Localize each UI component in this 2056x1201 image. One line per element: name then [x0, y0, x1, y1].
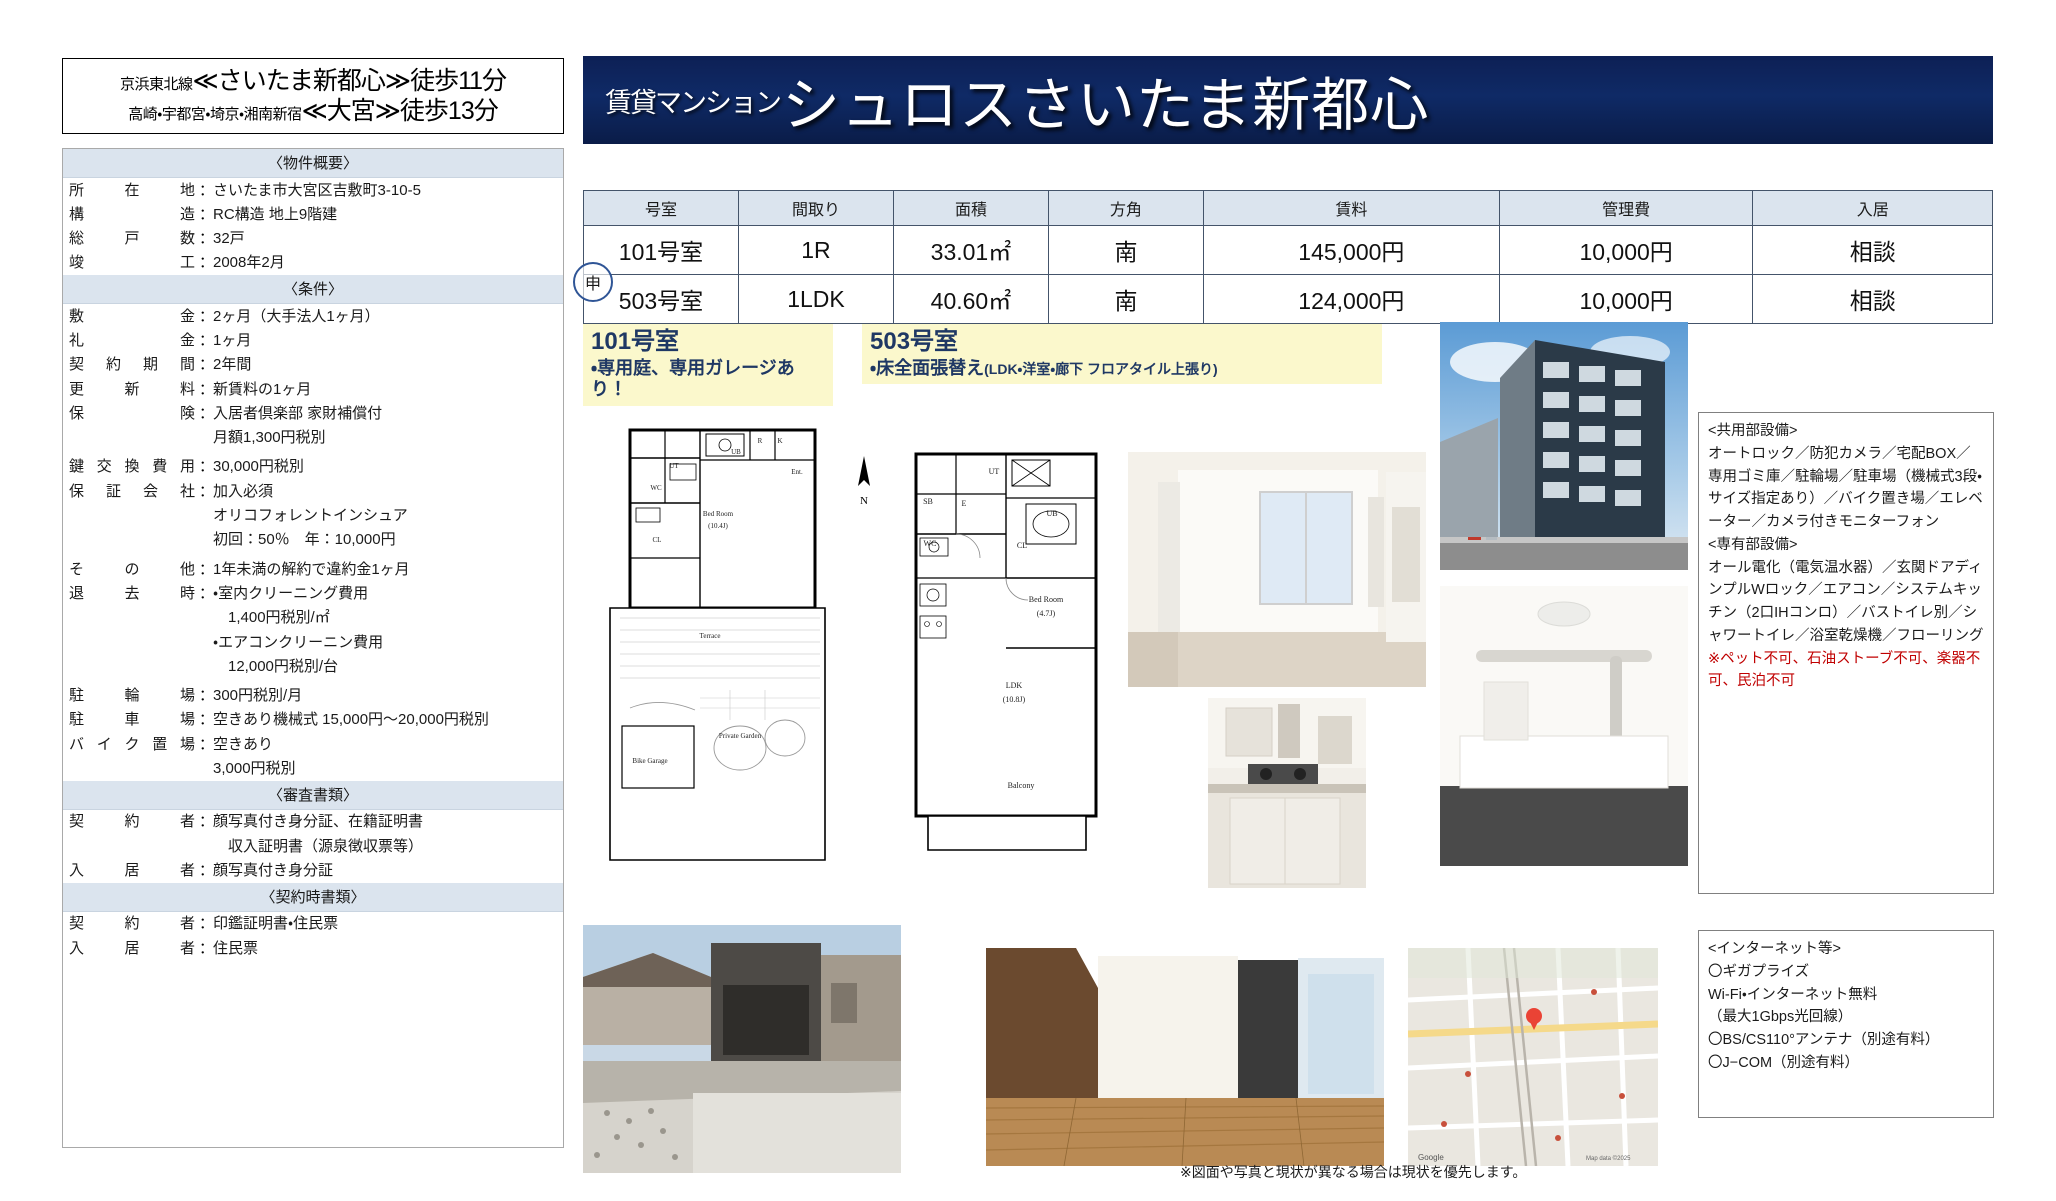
conditions-row: 更新料：新賃料の1ヶ月 [63, 377, 563, 401]
property-title-banner: 賃貸マンション シュロスさいたま新都心 [583, 56, 1993, 144]
floorplan-label: Ent. [791, 468, 803, 476]
overview-row-label: 所在地 [69, 180, 199, 201]
overview-row-label: 構造 [69, 204, 199, 225]
overview-row-colon: ： [199, 252, 213, 273]
conditions-row-colon: ： [199, 481, 213, 502]
application-mark-badge: 申 [573, 262, 613, 302]
conditions-row-colon: ： [199, 709, 213, 730]
conditions-row: ：月額1,300円税別 [63, 426, 563, 450]
floorplan-label: UB [731, 448, 741, 456]
table-header-3: 方角 [1048, 191, 1203, 226]
conditions-row-value: オリコフォレントインシュア [213, 505, 563, 526]
conditions-row-value: 1,400円税別/㎡ [213, 607, 563, 628]
floorplan-label: UT [669, 462, 679, 470]
svg-text:N: N [860, 495, 868, 507]
cell-area: 40.60㎡ [893, 275, 1048, 324]
callout-503-sub-main: ・床全面張替え [870, 358, 984, 378]
section-header-overview: 〈物件概要〉 [63, 149, 563, 178]
property-details-panel: 〈物件概要〉 所在地：さいたま市大宮区吉敷町3-10-5構造：RC構造 地上9階… [62, 148, 564, 1148]
contract-docs-row-colon: ： [199, 938, 213, 959]
section-header-contract-docs: 〈契約時書類〉 [63, 883, 563, 912]
table-body: 101号室1R33.01㎡南145,000円10,000円相談503号室1LDK… [584, 226, 1993, 324]
conditions-row: 退去時：・室内クリーニング費用 [63, 581, 563, 605]
floorplan-label: K [777, 437, 782, 445]
screening-row-label: 入居者 [69, 860, 199, 881]
contract-docs-rows: 契約者：印鑑証明書・住民票入居者：住民票 [63, 912, 563, 961]
conditions-row-value: 加入必須 [213, 481, 563, 502]
conditions-row-value: 3,000円税別 [213, 758, 563, 779]
conditions-row: ：初回：50％ 年：10,000円 [63, 528, 563, 552]
internet-item: （最大1Gbps光回線） [1708, 1006, 1984, 1029]
station-line-2-big: ≪大宮≫徒歩13分 [302, 97, 498, 125]
table-header-2: 面積 [893, 191, 1048, 226]
conditions-row-colon: ： [199, 403, 213, 424]
photo-wood-floor-room [986, 948, 1384, 1166]
station-line-2-small: 高崎・宇都宮・埼京・湘南新宿 [128, 106, 301, 123]
cell-area: 33.01㎡ [893, 226, 1048, 275]
overview-rows: 所在地：さいたま市大宮区吉敷町3-10-5構造：RC構造 地上9階建総戸数：32… [63, 178, 563, 275]
floorplan-label: Private Garden [719, 732, 762, 740]
private-facilities-text: オール電化（電気温水器）／玄関ドアディンプルWロック／エアコン／システムキッチン… [1708, 557, 1984, 648]
photo-living-room [1128, 452, 1426, 687]
conditions-row-value: 1年未満の解約で違約金1ヶ月 [213, 559, 563, 580]
table-header-5: 管理費 [1499, 191, 1753, 226]
compass-north-icon: N [845, 452, 883, 510]
cell-management: 10,000円 [1499, 226, 1753, 275]
floorplan-room-101: Bed Room(10.4J)UTWCCLUBEnt.TerracePrivat… [590, 408, 845, 870]
screening-rows: 契約者：顔写真付き身分証、在籍証明書： 収入証明書（源泉徴収票等）入居者：顔写真… [63, 810, 563, 883]
overview-row-colon: ： [199, 204, 213, 225]
conditions-row: 駐輪場：300円税別/月 [63, 684, 563, 708]
conditions-row: 契約期間：2年間 [63, 353, 563, 377]
station-access-line-2: 高崎・宇都宮・埼京・湘南新宿≪大宮≫徒歩13分 [63, 99, 563, 124]
contract-docs-row-label: 契約者 [69, 913, 199, 934]
contract-docs-row-label: 入居者 [69, 938, 199, 959]
conditions-row-value: 新賃料の1ヶ月 [213, 379, 563, 400]
cell-layout: 1LDK [738, 275, 893, 324]
contract-docs-row: 入居者：住民票 [63, 936, 563, 960]
cell-availability: 相談 [1753, 226, 1993, 275]
conditions-row: 敷金：2ヶ月（大手法人1ヶ月） [63, 304, 563, 328]
floorplan-label: WC [650, 484, 662, 492]
conditions-row-colon: ： [199, 456, 213, 477]
conditions-row-label: 駐輪場 [69, 685, 199, 706]
svg-text:Map data ©2025: Map data ©2025 [1586, 1155, 1631, 1162]
callout-503-sub-note: (LDK・洋室・廊下 フロアタイル上張り) [984, 361, 1218, 377]
table-header-1: 間取り [738, 191, 893, 226]
internet-items-list: 〇ギガプライズWi-Fi・インターネット無料（最大1Gbps光回線）〇BS/CS… [1708, 961, 1984, 1075]
conditions-row-label: 敷金 [69, 306, 199, 327]
station-line-1-small: 京浜東北線 [120, 76, 193, 93]
photo-kitchen [1208, 698, 1366, 888]
conditions-row-label: 礼金 [69, 330, 199, 351]
conditions-row: バイク置場：空きあり [63, 732, 563, 756]
internet-heading: <インターネット等> [1708, 938, 1984, 961]
section-header-conditions: 〈条件〉 [63, 275, 563, 304]
conditions-row-value: 12,000円税別/台 [213, 656, 563, 677]
station-access-box: 京浜東北線≪さいたま新都心≫徒歩11分 高崎・宇都宮・埼京・湘南新宿≪大宮≫徒歩… [62, 58, 564, 134]
floorplan-label: CL [653, 536, 662, 544]
conditions-row: 駐車場：空きあり機械式 15,000円〜20,000円税別 [63, 708, 563, 732]
contract-docs-row-value: 住民票 [213, 938, 563, 959]
conditions-row-colon: ： [199, 559, 213, 580]
conditions-row: 保証会社：加入必須 [63, 479, 563, 503]
page-title: シュロスさいたま新都心 [782, 58, 1429, 142]
floorplan-label: UB [1046, 509, 1057, 518]
conditions-row-value: ・エアコンクリーニン費用 [213, 632, 563, 653]
conditions-row: 保険：入居者倶楽部 家財補償付 [63, 401, 563, 425]
internet-item: 〇BS/CS110°アンテナ（別途有料） [1708, 1029, 1984, 1052]
conditions-row-value: 空きあり [213, 734, 563, 755]
common-facilities-text: オートロック／防犯カメラ／宅配BOX／専用ゴミ庫／駐輪場／駐車場（機械式3段・サ… [1708, 443, 1984, 534]
floorplan-label: (4.7J) [1037, 609, 1056, 618]
conditions-row-colon: ： [199, 379, 213, 400]
table-header-4: 賃料 [1203, 191, 1499, 226]
table-header-6: 入居 [1753, 191, 1993, 226]
screening-row-value: 収入証明書（源泉徴収票等） [213, 836, 563, 857]
table-row[interactable]: 101号室1R33.01㎡南145,000円10,000円相談 [584, 226, 1993, 275]
conditions-row-label: 駐車場 [69, 709, 199, 730]
screening-row: 入居者：顔写真付き身分証 [63, 858, 563, 882]
title-prefix-label: 賃貸マンション [605, 81, 780, 120]
overview-row: 竣工：2008年2月 [63, 251, 563, 275]
floorplan-label: Bed Room [703, 510, 734, 518]
conditions-row: ：オリコフォレントインシュア [63, 504, 563, 528]
floorplan-label: E [962, 499, 967, 508]
conditions-row-colon: ： [199, 306, 213, 327]
overview-row-value: さいたま市大宮区吉敷町3-10-5 [213, 180, 563, 201]
floorplan-label: Bike Garage [632, 757, 667, 765]
conditions-row-label: 保証会社 [69, 481, 199, 502]
conditions-row-value: 300円税別/月 [213, 685, 563, 706]
callout-101-subtitle: ・専用庭、専用ガレージあり！ [591, 358, 825, 401]
overview-row-label: 竣工 [69, 252, 199, 273]
cell-direction: 南 [1048, 226, 1203, 275]
conditions-row-label: 鍵交換費用 [69, 456, 199, 477]
floorplan-101-drawing: Bed Room(10.4J)UTWCCLUBEnt.TerracePrivat… [590, 408, 845, 870]
overview-row-colon: ： [199, 180, 213, 201]
conditions-row: ：・エアコンクリーニン費用 [63, 630, 563, 654]
floorplan-label: CL [1017, 541, 1027, 550]
callout-101-title: 101号室 [591, 328, 825, 356]
photo-bathroom [1440, 586, 1688, 866]
floorplan-label: Terrace [700, 632, 721, 640]
cell-rent: 145,000円 [1203, 226, 1499, 275]
conditions-row-value: 入居者倶楽部 家財補償付 [213, 403, 563, 424]
conditions-row-label: その他 [69, 559, 199, 580]
cell-availability: 相談 [1753, 275, 1993, 324]
contract-docs-row-value: 印鑑証明書・住民票 [213, 913, 563, 934]
svg-text:Google: Google [1418, 1153, 1444, 1162]
screening-row: ： 収入証明書（源泉徴収票等） [63, 834, 563, 858]
map-location: Google Map data ©2025 [1408, 948, 1658, 1166]
conditions-row-label: 更新料 [69, 379, 199, 400]
conditions-row-value: 月額1,300円税別 [213, 427, 563, 448]
conditions-row-colon: ： [199, 734, 213, 755]
photo-entrance-garage [583, 925, 901, 1173]
callout-503-subtitle: ・床全面張替え(LDK・洋室・廊下 フロアタイル上張り) [870, 358, 1374, 380]
table-header-row: 号室間取り面積方角賃料管理費入居 [584, 191, 1993, 226]
station-access-line-1: 京浜東北線≪さいたま新都心≫徒歩11分 [63, 69, 563, 94]
floorplan-label: WC [924, 539, 937, 548]
internet-item: 〇J−COM（別途有料） [1708, 1052, 1984, 1075]
conditions-row-colon: ： [199, 685, 213, 706]
floorplan-label: Bed Room [1029, 595, 1064, 604]
floorplan-label: (10.8J) [1003, 695, 1026, 704]
overview-row: 構造：RC構造 地上9階建 [63, 202, 563, 226]
screening-row-colon: ： [199, 811, 213, 832]
floorplan-label: SB [923, 497, 933, 506]
conditions-row-value: 初回：50％ 年：10,000円 [213, 529, 563, 550]
conditions-row-value: 30,000円税別 [213, 456, 563, 477]
conditions-row-value: 2年間 [213, 354, 563, 375]
internet-box: <インターネット等> 〇ギガプライズWi-Fi・インターネット無料（最大1Gbp… [1698, 930, 1994, 1118]
floorplan-label: (10.4J) [708, 522, 728, 530]
floorplan-label: LDK [1006, 681, 1023, 690]
overview-row-colon: ： [199, 228, 213, 249]
floorplan-label: Balcony [1008, 781, 1035, 790]
table-row[interactable]: 503号室1LDK40.60㎡南124,000円10,000円相談 [584, 275, 1993, 324]
conditions-row-colon: ： [199, 583, 213, 604]
conditions-row-label: 退去時 [69, 583, 199, 604]
section-header-screening: 〈審査書類〉 [63, 781, 563, 810]
cell-management: 10,000円 [1499, 275, 1753, 324]
overview-row-value: 2008年2月 [213, 252, 563, 273]
conditions-row: 鍵交換費用：30,000円税別 [63, 455, 563, 479]
facilities-box: <共用部設備> オートロック／防犯カメラ／宅配BOX／専用ゴミ庫／駐輪場／駐車場… [1698, 412, 1994, 894]
conditions-rows: 敷金：2ヶ月（大手法人1ヶ月）礼金：1ヶ月契約期間：2年間更新料：新賃料の1ヶ月… [63, 304, 563, 781]
photo-building-exterior [1440, 322, 1688, 570]
floorplan-label: R [758, 437, 763, 445]
conditions-row: その他：1年未満の解約で違約金1ヶ月 [63, 557, 563, 581]
overview-row: 所在地：さいたま市大宮区吉敷町3-10-5 [63, 178, 563, 202]
conditions-row-value: 1ヶ月 [213, 330, 563, 351]
cell-direction: 南 [1048, 275, 1203, 324]
conditions-row-colon: ： [199, 354, 213, 375]
screening-row-colon: ： [199, 860, 213, 881]
internet-item: Wi-Fi・インターネット無料 [1708, 984, 1984, 1007]
cell-layout: 1R [738, 226, 893, 275]
floorplan-label: UT [989, 467, 1000, 476]
contract-docs-row: 契約者：印鑑証明書・住民票 [63, 912, 563, 936]
internet-item: 〇ギガプライズ [1708, 961, 1984, 984]
floorplan-room-503: LDK(10.8J)Bed Room(4.7J)UTUBCLWCESBBalco… [886, 438, 1154, 878]
screening-row-value: 顔写真付き身分証、在籍証明書 [213, 811, 563, 832]
screening-row-label: 契約者 [69, 811, 199, 832]
conditions-row: ： 1,400円税別/㎡ [63, 606, 563, 630]
conditions-row-label: 契約期間 [69, 354, 199, 375]
conditions-row: 礼金：1ヶ月 [63, 328, 563, 352]
callout-room-503: 503号室 ・床全面張替え(LDK・洋室・廊下 フロアタイル上張り) [862, 324, 1382, 384]
conditions-row: ：3,000円税別 [63, 757, 563, 781]
screening-row: 契約者：顔写真付き身分証、在籍証明書 [63, 810, 563, 834]
table-header-0: 号室 [584, 191, 739, 226]
common-facilities-heading: <共用部設備> [1708, 420, 1984, 443]
room-listing-table: 号室間取り面積方角賃料管理費入居 101号室1R33.01㎡南145,000円1… [583, 190, 1993, 324]
contract-docs-row-colon: ： [199, 913, 213, 934]
floorplan-503-drawing: LDK(10.8J)Bed Room(4.7J)UTUBCLWCESBBalco… [886, 438, 1154, 878]
conditions-row-label: 保険 [69, 403, 199, 424]
conditions-row-colon: ： [199, 330, 213, 351]
screening-row-value: 顔写真付き身分証 [213, 860, 563, 881]
private-facilities-heading: <専有部設備> [1708, 534, 1984, 557]
conditions-row-value: 2ヶ月（大手法人1ヶ月） [213, 306, 563, 327]
station-line-1-big: ≪さいたま新都心≫徒歩11分 [192, 67, 506, 95]
conditions-row: ： 12,000円税別/台 [63, 654, 563, 678]
cell-rent: 124,000円 [1203, 275, 1499, 324]
overview-row: 総戸数：32戸 [63, 227, 563, 251]
conditions-row-label: バイク置場 [69, 734, 199, 755]
overview-row-value: 32戸 [213, 228, 563, 249]
callout-503-title: 503号室 [870, 328, 1374, 356]
conditions-row-value: 空きあり機械式 15,000円〜20,000円税別 [213, 709, 563, 730]
disclaimer-note: ※図面や写真と現状が異なる場合は現状を優先します。 [1180, 1162, 1526, 1182]
overview-row-value: RC構造 地上9階建 [213, 204, 563, 225]
conditions-row-value: ・室内クリーニング費用 [213, 583, 563, 604]
callout-room-101: 101号室 ・専用庭、専用ガレージあり！ [583, 324, 833, 406]
overview-row-label: 総戸数 [69, 228, 199, 249]
restrictions-text: ※ペット不可、石油ストーブ不可、楽器不可、民泊不可 [1708, 648, 1984, 694]
